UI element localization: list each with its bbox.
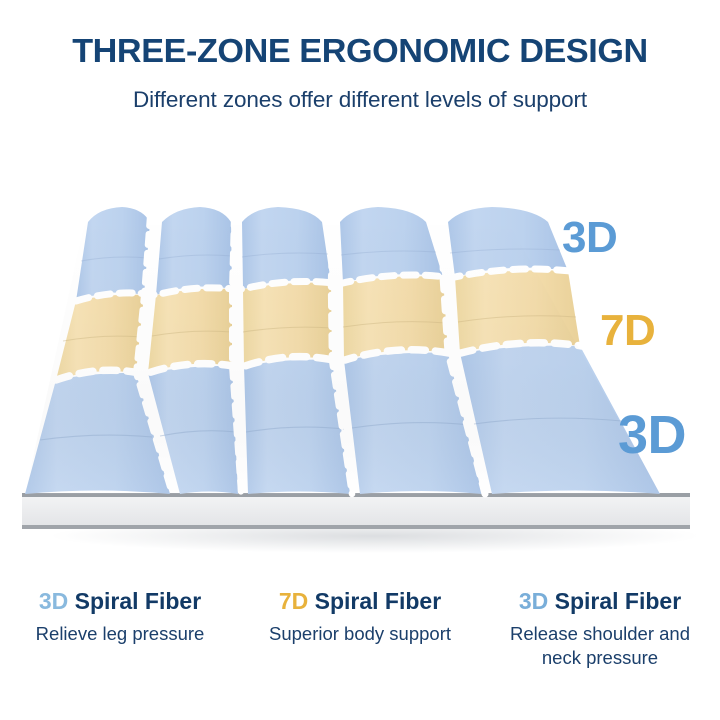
caption-body-support: 7D Spiral Fiber Superior body support <box>240 588 480 669</box>
topper-column-3 <box>242 207 350 494</box>
caption-subtitle: Relieve leg pressure <box>4 622 236 645</box>
caption-subtitle: Superior body support <box>244 622 476 645</box>
caption-leg-pressure: 3D Spiral Fiber Relieve leg pressure <box>0 588 240 669</box>
page-title: THREE-ZONE ERGONOMIC DESIGN <box>0 0 720 71</box>
caption-title: Spiral Fiber <box>555 588 682 614</box>
caption-shoulder-neck: 3D Spiral Fiber Release shoulder and nec… <box>480 588 720 669</box>
caption-code-7d: 7D <box>279 588 308 614</box>
panel-col2-row1-blue <box>156 207 232 295</box>
panel-col4-row1-blue <box>340 207 443 283</box>
caption-code-3d: 3D <box>519 588 548 614</box>
feature-captions: 3D Spiral Fiber Relieve leg pressure 7D … <box>0 588 720 669</box>
panel-col2-row2-amber <box>148 289 232 373</box>
caption-code-3d: 3D <box>39 588 68 614</box>
caption-heading: 3D Spiral Fiber <box>4 588 236 614</box>
zone-label-bottom: 3D <box>618 408 686 462</box>
page-subtitle: Different zones offer different levels o… <box>0 71 720 113</box>
panel-col1-row2-amber <box>56 295 144 380</box>
panel-col5-row1-blue <box>448 207 568 277</box>
zone-label-middle: 7D <box>600 309 655 353</box>
panel-col1-row1-blue <box>76 207 150 301</box>
header: THREE-ZONE ERGONOMIC DESIGN Different zo… <box>0 0 720 113</box>
panel-col1-row3-blue <box>25 373 170 494</box>
topper-column-1 <box>25 207 170 494</box>
caption-title: Spiral Fiber <box>75 588 202 614</box>
caption-heading: 7D Spiral Fiber <box>244 588 476 614</box>
panel-col4-row3-blue <box>344 353 482 494</box>
caption-subtitle: Release shoulder and neck pressure <box>484 622 716 668</box>
panel-col3-row1-blue <box>242 207 331 289</box>
panel-col3-row2-amber <box>243 283 332 366</box>
caption-heading: 3D Spiral Fiber <box>484 588 716 614</box>
zone-label-top: 3D <box>562 216 617 260</box>
caption-title: Spiral Fiber <box>315 588 442 614</box>
mattress-base <box>22 493 690 529</box>
